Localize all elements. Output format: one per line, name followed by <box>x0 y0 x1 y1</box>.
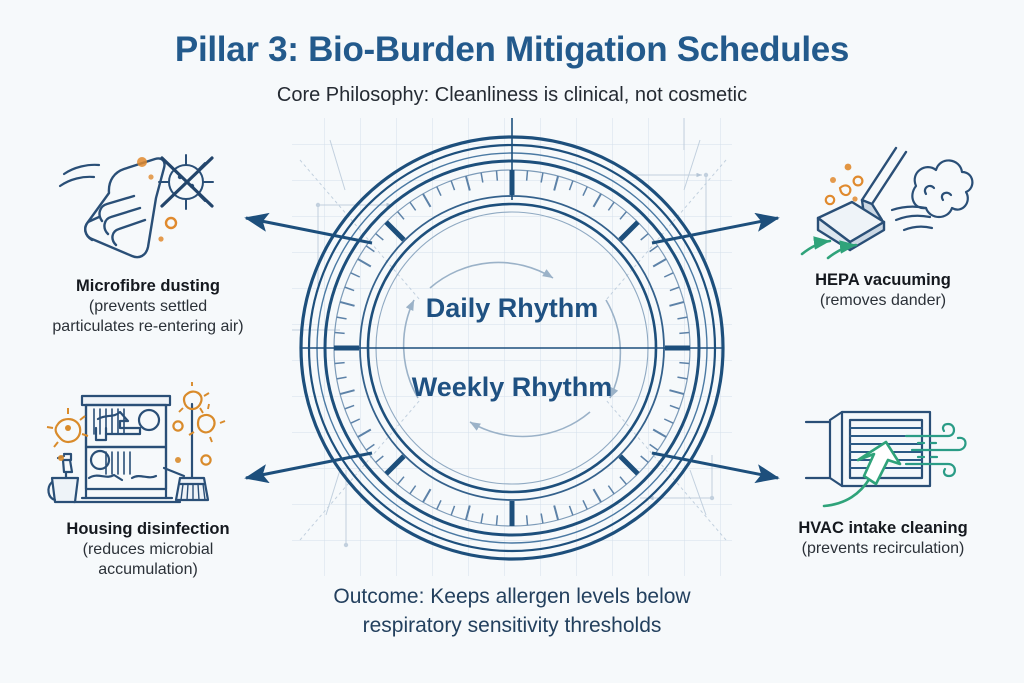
hub-tick-minor <box>527 515 528 525</box>
node-hepa-vacuuming[interactable]: HEPA vacuuming (removes dander) <box>742 270 1024 311</box>
dust-cloud-icon <box>892 160 972 230</box>
hand-wiping-cloth-icon <box>85 158 164 257</box>
node-detail-line-1: (reduces microbial <box>0 540 296 560</box>
page-subtitle: Core Philosophy: Cleanliness is clinical… <box>0 84 1024 107</box>
microbe-particles-icon <box>47 382 225 465</box>
hub-tick-minor <box>335 332 345 333</box>
node-detail-line-1: (prevents recirculation) <box>742 539 1024 559</box>
broom-icon <box>164 404 208 500</box>
outcome-line-1: Outcome: Keeps allergen levels below <box>0 583 1024 612</box>
node-heading: Housing disinfection <box>0 519 296 540</box>
icon-housing-disinfection <box>44 382 244 517</box>
node-hvac-intake-cleaning[interactable]: HVAC intake cleaning (prevents recircula… <box>742 518 1024 559</box>
node-detail-line-1: (removes dander) <box>742 291 1024 311</box>
hub-tick-minor <box>527 171 528 181</box>
hub-tick-minor <box>496 515 497 525</box>
node-microfibre-dusting[interactable]: Microfibre dusting (prevents settled par… <box>0 276 296 337</box>
hub-tick-minor <box>679 363 689 364</box>
node-heading: HVAC intake cleaning <box>742 518 1024 539</box>
hub-tick-minor <box>335 363 345 364</box>
outcome-line-2: respiratory sensitivity thresholds <box>0 612 1024 641</box>
page-title: Pillar 3: Bio-Burden Mitigation Schedule… <box>0 30 1024 70</box>
icon-hepa-vacuuming <box>800 142 980 267</box>
outcome-statement: Outcome: Keeps allergen levels below res… <box>0 583 1024 641</box>
node-detail-line-1: (prevents settled <box>0 297 296 317</box>
node-heading: Microfibre dusting <box>0 276 296 297</box>
vacuum-cleaner-icon <box>818 148 906 250</box>
icon-hvac-intake-cleaning <box>802 398 992 521</box>
animal-housing-icon <box>74 396 180 502</box>
hub-tick-minor <box>496 171 497 181</box>
node-detail-line-2: accumulation) <box>0 560 296 580</box>
node-housing-disinfection[interactable]: Housing disinfection (reduces microbial … <box>0 519 296 580</box>
hub-tick-minor <box>679 332 689 333</box>
node-detail-line-2: particulates re-entering air) <box>0 317 296 337</box>
infographic-canvas: Pillar 3: Bio-Burden Mitigation Schedule… <box>0 0 1024 683</box>
icon-microfibre-dusting <box>52 146 232 269</box>
node-heading: HEPA vacuuming <box>742 270 1024 291</box>
dust-particles-icon <box>826 164 863 205</box>
spray-bottle-bucket-icon <box>48 454 78 502</box>
motion-lines-icon <box>60 165 99 186</box>
